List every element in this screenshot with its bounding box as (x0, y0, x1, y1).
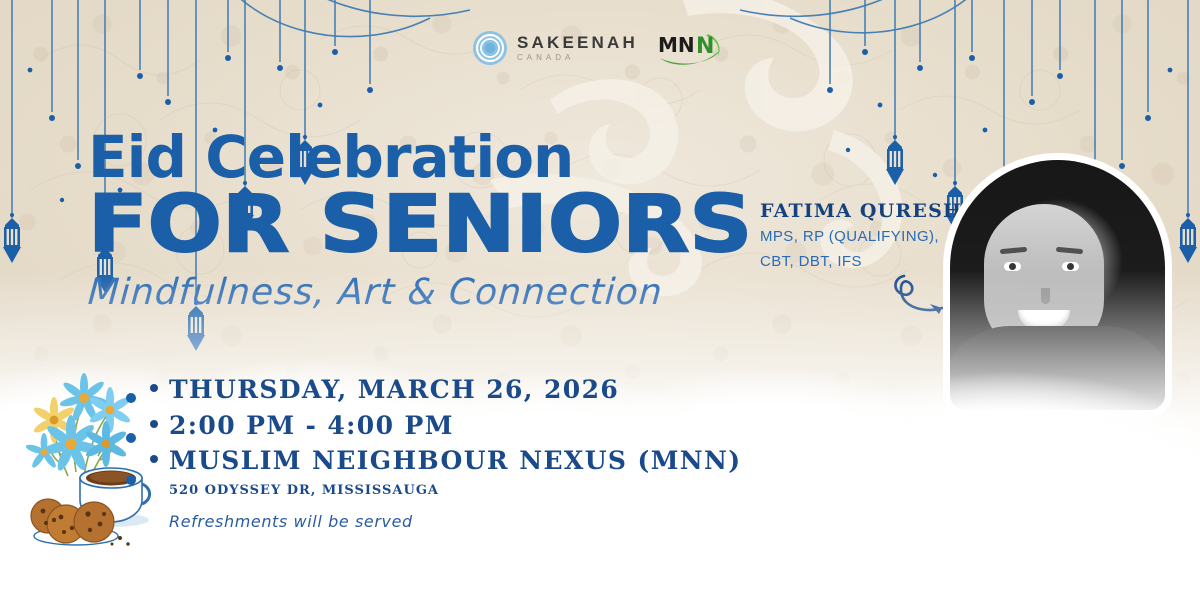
detail-time: 2:00 PM - 4:00 PM (150, 408, 742, 444)
event-details: THURSDAY, MARCH 26, 2026 2:00 PM - 4:00 … (150, 372, 742, 531)
svg-text:MN: MN (658, 33, 695, 57)
detail-address: 520 ODYSSEY DR, MISSISSAUGA (169, 483, 742, 498)
detail-date-text: THURSDAY, MARCH 26, 2026 (169, 372, 619, 408)
detail-time-text: 2:00 PM - 4:00 PM (169, 408, 454, 444)
sakeenah-logo: SAKEENAH CANADA (472, 30, 638, 66)
speaker-block: FATIMA QURESHI MPS, RP (QUALIFYING), CBT… (760, 200, 970, 273)
speaker-name: FATIMA QURESHI (760, 200, 970, 222)
sakeenah-logo-sub: CANADA (517, 54, 638, 62)
mnn-logo-mark: MN N (656, 28, 728, 68)
logo-row: SAKEENAH CANADA MN N (0, 28, 1200, 68)
detail-date: THURSDAY, MARCH 26, 2026 (150, 372, 742, 408)
page-title-line2: FOR SENIORS (88, 188, 782, 262)
bullet-icon (150, 384, 158, 392)
bullet-icon (150, 455, 158, 463)
mnn-logo: MN N (656, 28, 728, 68)
decorative-dots (118, 388, 144, 498)
concentric-circles-icon (472, 30, 508, 66)
page-title-line1: Eid Celebration (88, 128, 708, 186)
detail-venue-text: MUSLIM NEIGHBOUR NEXUS (MNN) (169, 443, 742, 479)
speaker-credentials-line1: MPS, RP (QUALIFYING), (760, 227, 970, 247)
bullet-icon (150, 420, 158, 428)
svg-text:N: N (696, 34, 714, 59)
detail-venue: MUSLIM NEIGHBOUR NEXUS (MNN) (150, 443, 742, 479)
eid-celebration-flyer: SAKEENAH CANADA MN N Eid Celebration FOR… (0, 0, 1200, 600)
sakeenah-logo-name: SAKEENAH (517, 34, 638, 51)
detail-refreshments: Refreshments will be served (169, 512, 742, 531)
